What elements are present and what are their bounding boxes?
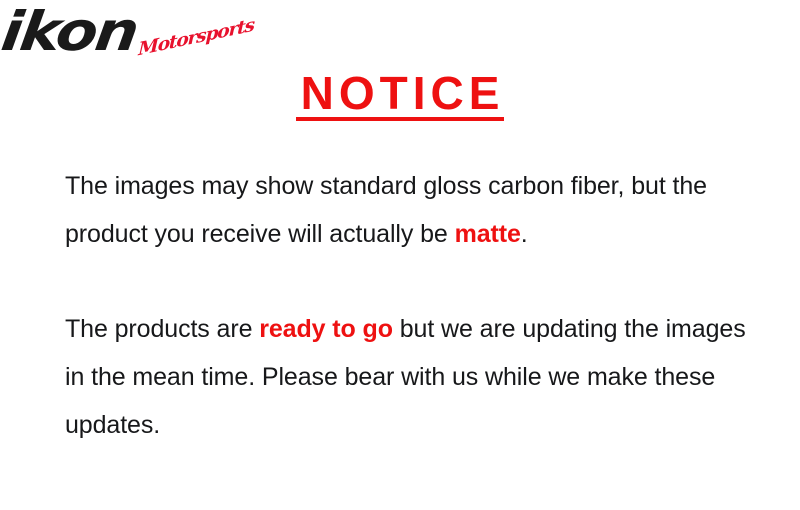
paragraph-2-text-before: The products are xyxy=(65,315,259,343)
paragraph-spacer xyxy=(65,258,755,305)
notice-heading: NOTICE xyxy=(0,68,800,118)
paragraph-1-text-before: The images may show standard gloss carbo… xyxy=(65,172,707,248)
paragraph-1-highlight: matte xyxy=(455,220,521,248)
brand-logo: ikon Motorsports xyxy=(0,0,250,78)
logo-script-text: Motorsports xyxy=(138,15,254,60)
page-title: NOTICE xyxy=(296,68,505,118)
title-underline-rule xyxy=(296,117,504,121)
paragraph-2-highlight: ready to go xyxy=(259,315,393,343)
logo-wordmark-text: ikon xyxy=(0,4,140,60)
notice-body: The images may show standard gloss carbo… xyxy=(65,162,755,449)
notice-paragraph-2: The products are ready to go but we are … xyxy=(65,305,755,449)
paragraph-1-text-after: . xyxy=(521,220,528,248)
notice-paragraph-1: The images may show standard gloss carbo… xyxy=(65,162,755,258)
